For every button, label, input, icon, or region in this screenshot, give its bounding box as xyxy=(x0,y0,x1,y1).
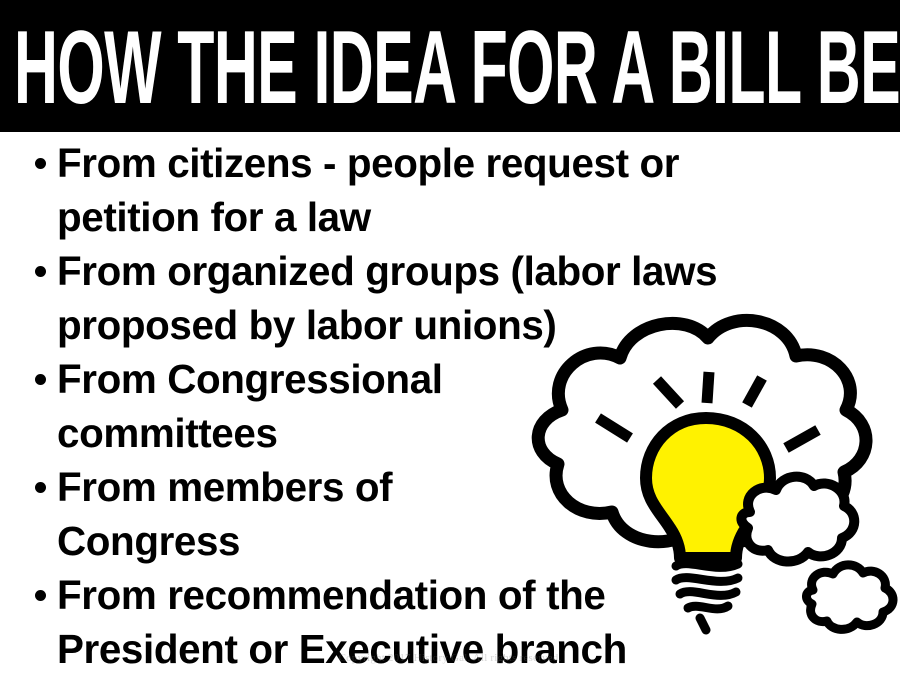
list-item-line: petition for a law xyxy=(57,190,371,244)
list-item-line: President or Executive branch xyxy=(57,622,627,675)
copyright-watermark: Copyright 2017 History Gal. All rights r… xyxy=(0,652,900,664)
bullet-dot-icon xyxy=(35,482,46,493)
bullet-dot-icon xyxy=(35,590,46,601)
title-bar: HOW THE IDEA FOR A BILL BEGINS xyxy=(0,0,900,132)
list-item-line: From organized groups (labor laws xyxy=(57,244,717,298)
list-item-line: Congress xyxy=(57,514,240,568)
list-item-line: From citizens - people request or xyxy=(57,136,679,190)
list-item-line: committees xyxy=(57,406,278,460)
bullet-dot-icon xyxy=(35,266,46,277)
list-item-line: From recommendation of the xyxy=(57,568,605,622)
list-item-line: From members of xyxy=(57,460,392,514)
list-item-line: proposed by labor unions) xyxy=(57,298,556,352)
bullet-list: From citizens - people request or petiti… xyxy=(0,132,900,675)
bullet-dot-icon xyxy=(35,374,46,385)
page-title: HOW THE IDEA FOR A BILL BEGINS xyxy=(14,18,482,118)
slide-canvas: HOW THE IDEA FOR A BILL BEGINS From citi… xyxy=(0,0,900,675)
list-item-line: From Congressional xyxy=(57,352,443,406)
bullet-dot-icon xyxy=(35,158,46,169)
